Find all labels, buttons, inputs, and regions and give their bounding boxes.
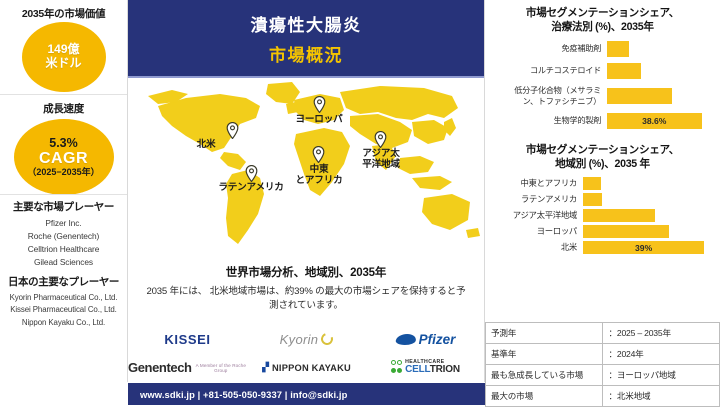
list-item: Kyorin Pharmaceutical Co., Ltd.	[2, 292, 125, 304]
world-map: 北米 ヨーロッパ アジア太 平洋地域 中東 とアフリカ ラテンアメリカ	[128, 78, 485, 260]
table-row: 最大の市場 ：北米地域	[486, 386, 720, 407]
therapy-chart-title-line2: 治療法別 (%)、2035年	[491, 20, 714, 34]
table-row: 基準年 ：2024年	[486, 344, 720, 365]
bar	[607, 63, 641, 79]
bar: 38.6%	[607, 113, 702, 129]
growth-rate-heading: 成長速度	[0, 95, 127, 116]
celltrion-dots-filled-icon	[391, 368, 402, 373]
logo-genentech: Genentech A Member of the Roche Group	[128, 360, 247, 375]
bar-row: アジア太平洋地域	[489, 209, 712, 222]
therapy-chart-title-line1: 市場セグメンテーションシェア、	[491, 6, 714, 20]
infographic-root: 2035年の市場価値 149億 米ドル 成長速度 5.3% CAGR （2025…	[0, 0, 720, 405]
bar-track: 39%	[583, 241, 712, 254]
japan-players-heading: 日本の主要なプレーヤー	[2, 274, 125, 289]
title-band: 潰瘍性大腸炎 市場概況	[128, 0, 484, 78]
cagr-percent: 5.3%	[49, 136, 78, 150]
table-cell-value: ：2024年	[603, 344, 720, 365]
growth-rate-section: 成長速度 5.3% CAGR （2025−2035年）	[0, 95, 127, 195]
bar-label: 免疫補助剤	[489, 43, 607, 54]
bar-track	[583, 177, 712, 190]
bar-row: 免疫補助剤	[489, 41, 712, 57]
list-item: Gilead Sciences	[2, 256, 125, 269]
bar-label: 低分子化合物（メサラミ ン、トファシチニブ）	[489, 85, 607, 107]
market-value-line2: 米ドル	[45, 57, 81, 71]
map-pin-icon	[374, 131, 387, 148]
logo-kyorin: Kyorin	[280, 332, 334, 347]
logo-genentech-tagline: A Member of the Roche Group	[195, 363, 247, 373]
bar-value: 38.6%	[642, 116, 666, 126]
region-chart-title-line1: 市場セグメンテーションシェア、	[491, 143, 714, 157]
list-item: Kissei Pharmaceutical Co., Ltd.	[2, 304, 125, 316]
table-cell-key: 予測年	[486, 323, 603, 344]
map-caption: 世界市場分析、地域別、2035年 2035 年には、 北米地域市場は、約39% …	[128, 260, 484, 314]
cagr-metric: CAGR	[39, 150, 88, 168]
map-label-latin-america: ラテンアメリカ	[190, 182, 312, 193]
table-row: 最も急成長している市場 ：ヨーロッパ地域	[486, 365, 720, 386]
pfizer-swoosh-icon	[394, 334, 416, 345]
bar-label: 北米	[489, 242, 583, 253]
market-value-section: 2035年の市場価値 149億 米ドル	[0, 0, 127, 95]
bar-row: ヨーロッパ	[489, 225, 712, 238]
kyorin-swirl-icon	[319, 331, 335, 347]
bar-row: 北米 39%	[489, 241, 712, 254]
market-value-line1: 149億	[47, 43, 79, 57]
bar	[607, 88, 672, 104]
map-pin-icon	[245, 165, 258, 182]
key-players-heading: 主要な市場プレーヤー	[2, 199, 125, 214]
logo-nippon-kayaku-text: NIPPON KAYAKU	[272, 363, 351, 373]
bar-track: 38.6%	[607, 113, 712, 129]
cagr-period: （2025−2035年）	[27, 167, 99, 177]
bar-value: 39%	[635, 243, 652, 253]
therapy-segmentation-chart: 免疫補助剤 コルチコステロイド 低分子化合物（メサラミ ン、トファシチニブ）	[485, 35, 720, 129]
logo-pfizer: Pfizer	[396, 332, 456, 347]
table-cell-value: ：2025 – 2035年	[603, 323, 720, 344]
bar	[583, 225, 669, 238]
right-panel: 市場セグメンテーションシェア、 治療法別 (%)、2035年 免疫補助剤 コルチ…	[485, 0, 720, 405]
bar-row: ラテンアメリカ	[489, 193, 712, 206]
market-value-heading: 2035年の市場価値	[0, 0, 127, 21]
bar-label: アジア太平洋地域	[489, 210, 583, 221]
region-chart-title-line2: 地域別 (%)、2035 年	[491, 157, 714, 171]
map-caption-title: 世界市場分析、地域別、2035年	[142, 264, 470, 280]
bar-label: コルチコステロイド	[489, 65, 607, 76]
logo-celltrion-prefix: CELL	[405, 364, 430, 375]
bar-row: 生物学的製剤 38.6%	[489, 113, 712, 129]
list-item: Roche (Genentech)	[2, 230, 125, 243]
map-pin-icon	[313, 96, 326, 113]
logo-kyorin-text: Kyorin	[280, 332, 319, 347]
map-caption-body: 2035 年には、 北米地域市場は、約39% の最大の市場シェアを保持すると予測…	[142, 285, 470, 314]
cagr-bubble: 5.3% CAGR （2025−2035年）	[14, 119, 114, 195]
bar-track	[583, 193, 712, 206]
therapy-chart-title: 市場セグメンテーションシェア、 治療法別 (%)、2035年	[485, 0, 720, 35]
kayaku-mark-icon: ▞	[262, 362, 269, 373]
bar-label: 生物学的製剤	[489, 115, 607, 126]
center-panel: 潰瘍性大腸炎 市場概況	[128, 0, 485, 382]
logo-celltrion-suffix: TRION	[430, 364, 460, 375]
region-segmentation-chart: 中東とアフリカ ラテンアメリカ アジア太平洋地域	[485, 171, 720, 254]
logo-kissei: KISSEI	[164, 332, 210, 347]
list-item: Nippon Kayaku Co., Ltd.	[2, 317, 125, 329]
region-chart-title: 市場セグメンテーションシェア、 地域別 (%)、2035 年	[485, 135, 720, 172]
bar-row: コルチコステロイド	[489, 63, 712, 79]
bar	[607, 41, 629, 57]
map-label-north-america: 北米	[178, 139, 234, 150]
logo-genentech-text: Genentech	[128, 360, 192, 375]
logo-nippon-kayaku: ▞ NIPPON KAYAKU	[262, 362, 351, 373]
celltrion-dots-icon	[391, 360, 402, 365]
logo-celltrion: HEALTHCARE CELLTRION	[391, 360, 460, 376]
map-pin-icon	[226, 122, 239, 139]
bar	[583, 177, 601, 190]
table-cell-key: 基準年	[486, 344, 603, 365]
bar-track	[607, 41, 712, 57]
bar-track	[583, 209, 712, 222]
company-logos: KISSEI Kyorin Pfizer Genentech A Member …	[128, 325, 485, 382]
players-section: 主要な市場プレーヤー Pfizer Inc. Roche (Genentech)…	[0, 195, 127, 329]
bar-row: 中東とアフリカ	[489, 177, 712, 190]
list-item: Celltrion Healthcare	[2, 243, 125, 256]
bar-track	[607, 63, 712, 79]
bar-label: 中東とアフリカ	[489, 178, 583, 189]
map-pin-icon	[312, 146, 325, 163]
footer-left-pad	[0, 383, 128, 405]
table-cell-key: 最大の市場	[486, 386, 603, 407]
left-sidebar: 2035年の市場価値 149億 米ドル 成長速度 5.3% CAGR （2025…	[0, 0, 128, 382]
bar	[583, 193, 602, 206]
bar-track	[607, 88, 712, 104]
list-item: Pfizer Inc.	[2, 217, 125, 230]
bar-label: ラテンアメリカ	[489, 194, 583, 205]
bar-track	[583, 225, 712, 238]
logo-kissei-text: KISSEI	[164, 332, 210, 347]
page-subtitle: 市場概況	[269, 41, 343, 66]
summary-table: 予測年 ：2025 – 2035年 基準年 ：2024年 最も急成長している市場…	[485, 322, 720, 407]
table-cell-value: ：ヨーロッパ地域	[603, 365, 720, 386]
table-row: 予測年 ：2025 – 2035年	[486, 323, 720, 344]
logo-pfizer-text: Pfizer	[419, 332, 456, 347]
market-value-bubble: 149億 米ドル	[22, 22, 106, 92]
bar	[583, 209, 655, 222]
map-label-europe: ヨーロッパ	[275, 114, 363, 125]
bar: 39%	[583, 241, 704, 254]
footer-contact-text: www.sdki.jp | +81-505-050-9337 | info@sd…	[140, 389, 347, 400]
table-cell-value: ：北米地域	[603, 386, 720, 407]
footer-bar: www.sdki.jp | +81-505-050-9337 | info@sd…	[128, 383, 485, 405]
bar-row: 低分子化合物（メサラミ ン、トファシチニブ）	[489, 85, 712, 107]
table-cell-key: 最も急成長している市場	[486, 365, 603, 386]
page-title: 潰瘍性大腸炎	[251, 11, 362, 36]
bar-label: ヨーロッパ	[489, 226, 583, 237]
